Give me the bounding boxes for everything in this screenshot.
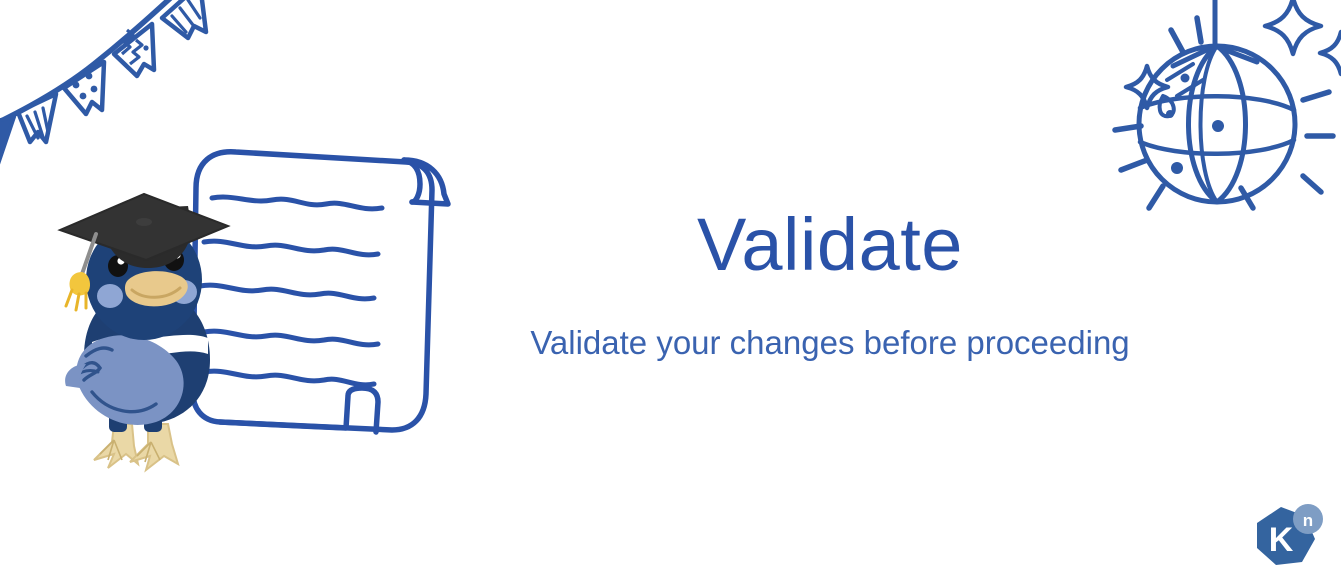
page-title: Validate — [480, 205, 1180, 285]
bunting-flag-stripes — [18, 94, 56, 142]
graduate-bird-mascot — [52, 188, 242, 473]
bunting-flag-solid — [0, 117, 14, 170]
logo-primary-letter: K — [1269, 521, 1294, 559]
page-subtitle: Validate your changes before proceeding — [480, 323, 1180, 363]
brand-logo[interactable]: K n — [1248, 503, 1326, 575]
text-block: Validate Validate your changes before pr… — [480, 205, 1180, 363]
slide-canvas: Validate Validate your changes before pr… — [0, 0, 1341, 585]
logo-badge-letter: n — [1303, 511, 1313, 530]
bunting-flag-stripes-top — [162, 0, 206, 38]
bird-cheek-left — [97, 284, 123, 308]
disco-ball-icon — [1107, 0, 1341, 236]
